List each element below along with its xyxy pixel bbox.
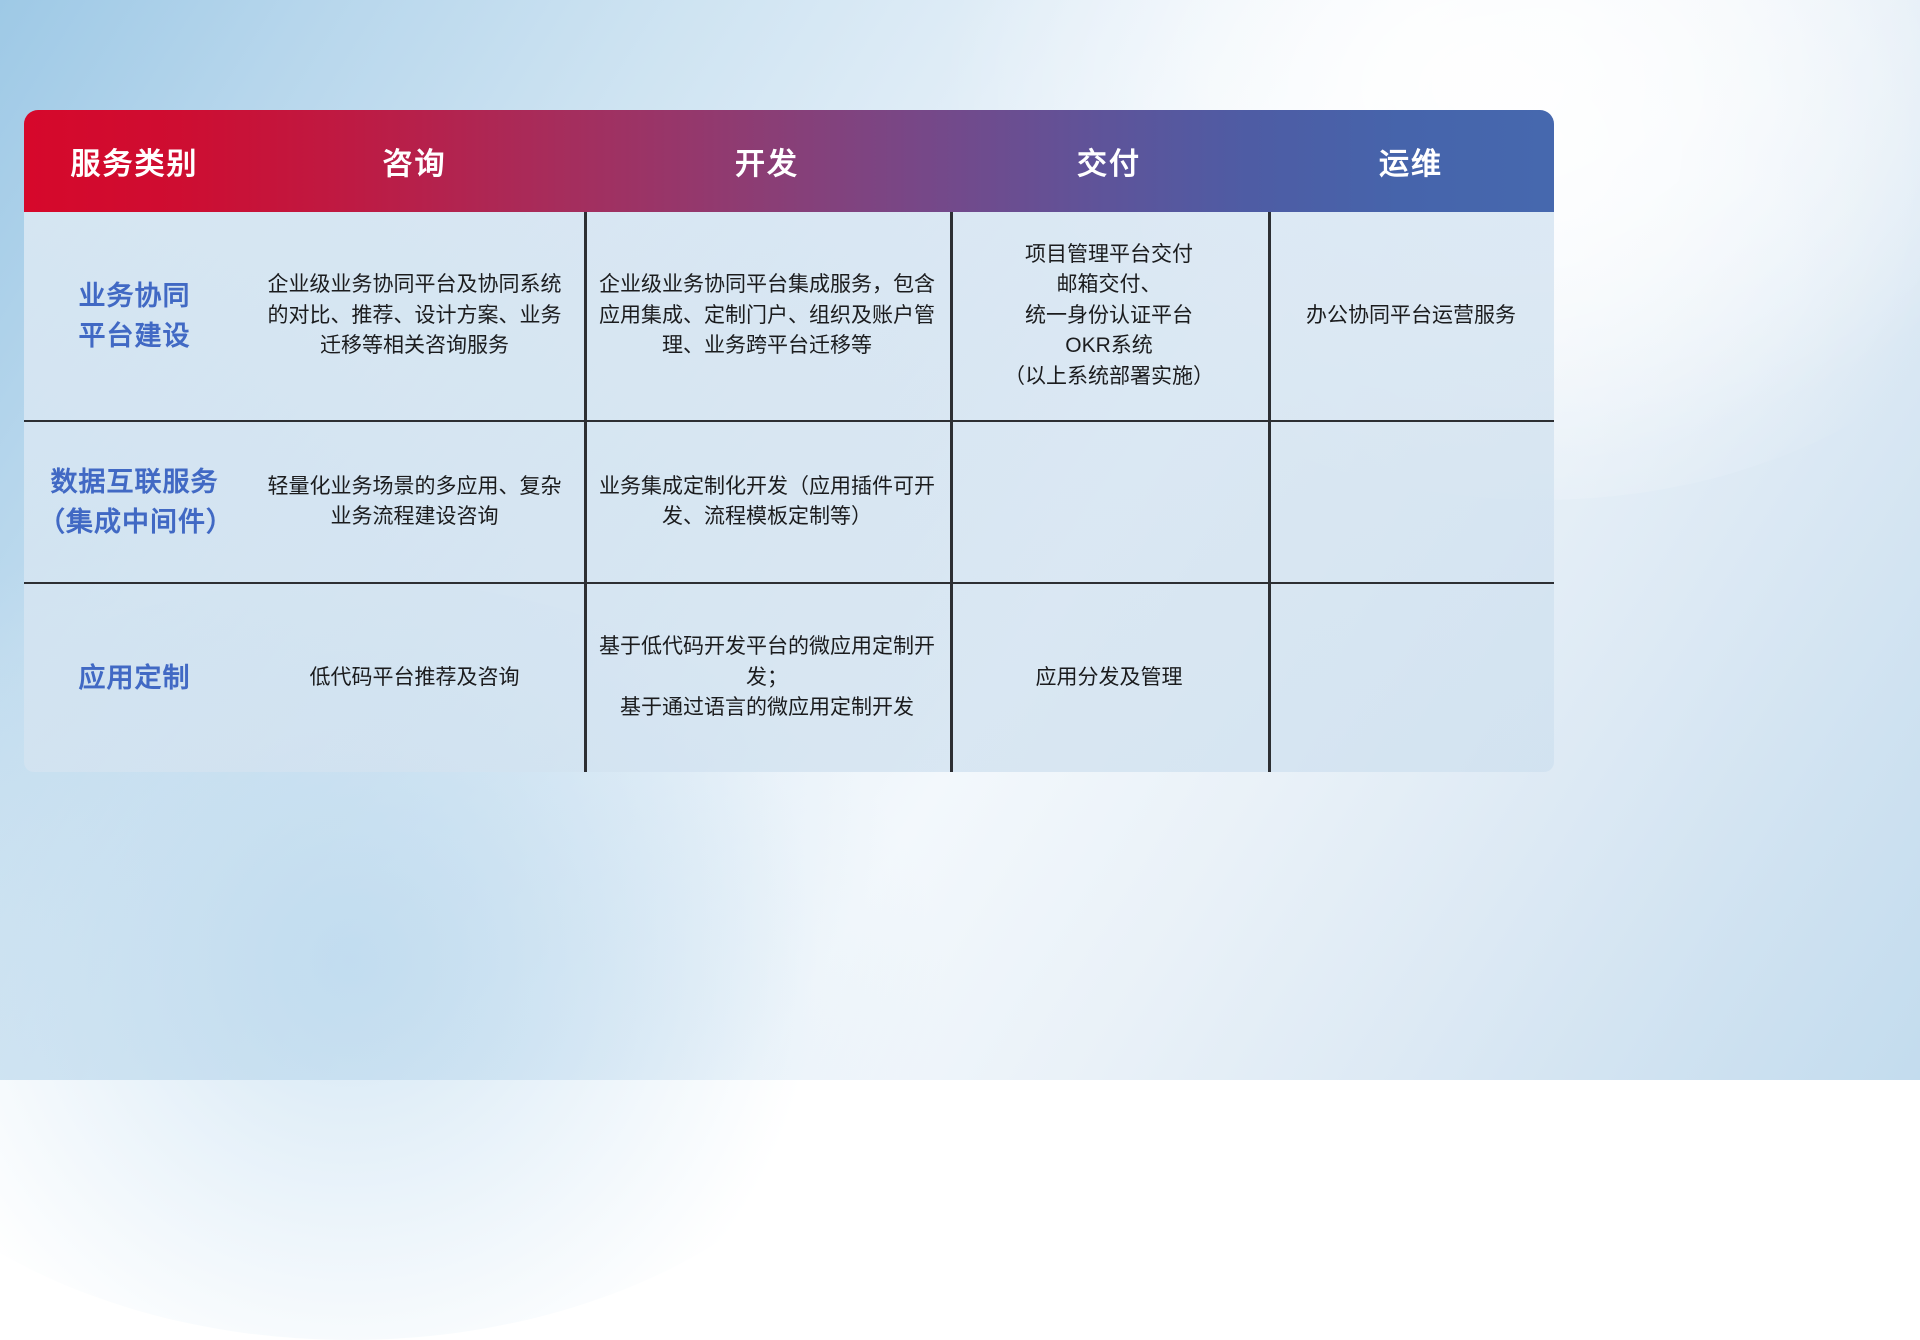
row-category-label: 业务协同 平台建设: [24, 212, 245, 420]
column-header-category: 服务类别: [24, 110, 245, 212]
cell-delivery: 应用分发及管理: [950, 584, 1268, 772]
service-matrix-table: 服务类别 咨询 开发 交付 运维 业务协同 平台建设 企业级业务协同平台及协同系…: [24, 110, 1554, 772]
column-header-delivery: 交付: [950, 110, 1268, 212]
row-category-label: 数据互联服务 （集成中间件）: [24, 422, 245, 582]
cell-development: 业务集成定制化开发（应用插件可开发、流程模板定制等）: [584, 422, 950, 582]
row-category-label: 应用定制: [24, 584, 245, 772]
cell-development: 基于低代码开发平台的微应用定制开发； 基于通过语言的微应用定制开发: [584, 584, 950, 772]
cell-operations: [1268, 422, 1554, 582]
table-header-row: 服务类别 咨询 开发 交付 运维: [24, 110, 1554, 212]
page-root: 服务类别 咨询 开发 交付 运维 业务协同 平台建设 企业级业务协同平台及协同系…: [0, 0, 1920, 1080]
column-header-operations: 运维: [1268, 110, 1554, 212]
column-header-consulting: 咨询: [245, 110, 584, 212]
cell-delivery: [950, 422, 1268, 582]
cell-consulting: 企业级业务协同平台及协同系统的对比、推荐、设计方案、业务迁移等相关咨询服务: [245, 212, 584, 420]
table-body: 业务协同 平台建设 企业级业务协同平台及协同系统的对比、推荐、设计方案、业务迁移…: [24, 212, 1554, 772]
table-row: 数据互联服务 （集成中间件） 轻量化业务场景的多应用、复杂业务流程建设咨询 业务…: [24, 420, 1554, 582]
cell-operations: [1268, 584, 1554, 772]
cell-development: 企业级业务协同平台集成服务，包含应用集成、定制门户、组织及账户管理、业务跨平台迁…: [584, 212, 950, 420]
column-header-development: 开发: [584, 110, 950, 212]
table-row: 应用定制 低代码平台推荐及咨询 基于低代码开发平台的微应用定制开发； 基于通过语…: [24, 582, 1554, 772]
table-row: 业务协同 平台建设 企业级业务协同平台及协同系统的对比、推荐、设计方案、业务迁移…: [24, 212, 1554, 420]
cell-operations: 办公协同平台运营服务: [1268, 212, 1554, 420]
cell-consulting: 低代码平台推荐及咨询: [245, 584, 584, 772]
cell-delivery: 项目管理平台交付 邮箱交付、 统一身份认证平台 OKR系统 （以上系统部署实施）: [950, 212, 1268, 420]
cell-consulting: 轻量化业务场景的多应用、复杂业务流程建设咨询: [245, 422, 584, 582]
